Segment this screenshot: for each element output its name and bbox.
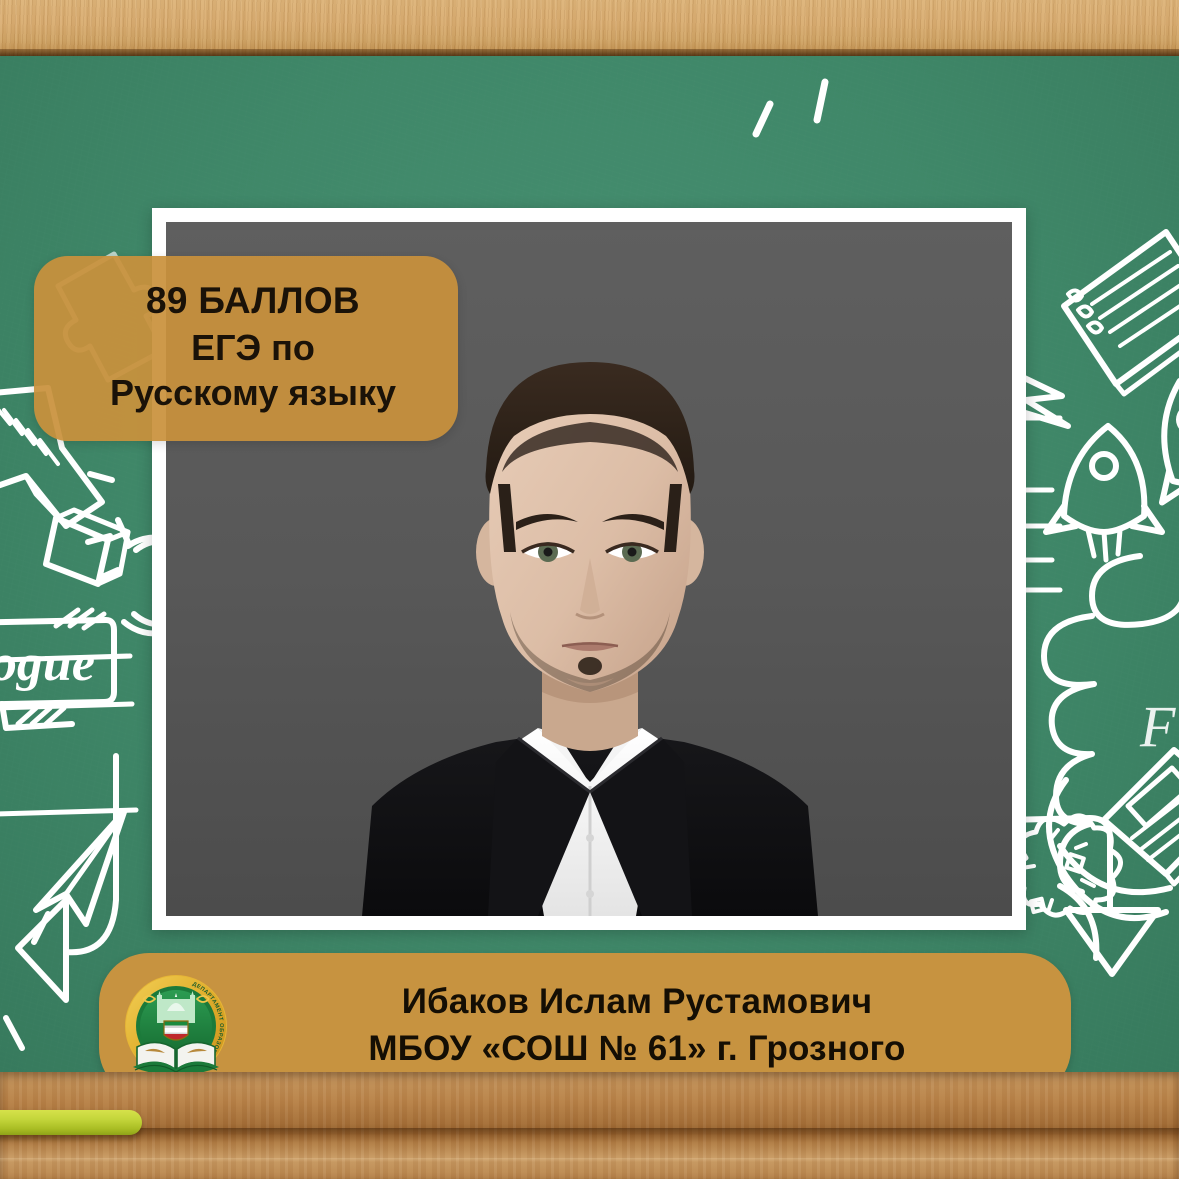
dialogue-label-icon: ialogue [0,610,114,728]
ruler-ticks-icon [1020,418,1060,590]
wooden-bottom-ledge [0,1072,1179,1179]
score-badge: 89 БАЛЛОВ ЕГЭ по Русскому языку [34,256,458,441]
ledge-highlight-line [0,1158,1179,1162]
score-badge-line2: ЕГЭ по [74,325,432,370]
department-of-education-grozny-emblem: ДЕПАРТАМЕНТ ОБРАЗОВАНИЯ МЭРИИ Г. ГРОЗНОГ… [123,973,229,1079]
rocket-icon [1046,426,1162,560]
score-badge-line1: 89 БАЛЛОВ [74,278,432,325]
notebook-icon [1064,232,1179,394]
chalk-dash-icon [6,474,118,1048]
splatter-icon [1015,816,1120,915]
circle-doodle-icon [1049,780,1170,918]
svg-text:F: F [1139,694,1176,759]
letter-f-icon: F [1139,694,1176,759]
wooden-top-frame [0,0,1179,56]
school-name: МБОУ «СОШ № 61» г. Грозного [229,1025,1045,1072]
score-badge-line3: Русскому языку [74,370,432,415]
chalk-tick-icon [756,82,825,134]
dialogue-label-text: ialogue [0,635,95,692]
ledge-shadow-line [0,1128,1179,1135]
cube-icon [46,510,128,584]
curve-doodle-icon [1060,886,1096,958]
left-triangle-arrow-icon [18,756,116,1000]
rocket-icon [1122,367,1179,528]
poster-canvas: ialogue [0,0,1179,1179]
chalk-piece [0,1110,142,1135]
paper-plane-icon [36,812,124,924]
chalkboard-surface: ialogue [0,56,1179,1072]
open-book-icon [1104,750,1179,884]
down-triangle-arrow-icon [1006,818,1158,974]
student-name: Ибаков Ислам Рустамович [229,979,1045,1025]
spiral-trail-icon [1044,556,1179,892]
chalk-rule-icon [0,656,136,814]
name-banner-text: Ибаков Ислам Рустамович МБОУ «СОШ № 61» … [229,979,1071,1072]
